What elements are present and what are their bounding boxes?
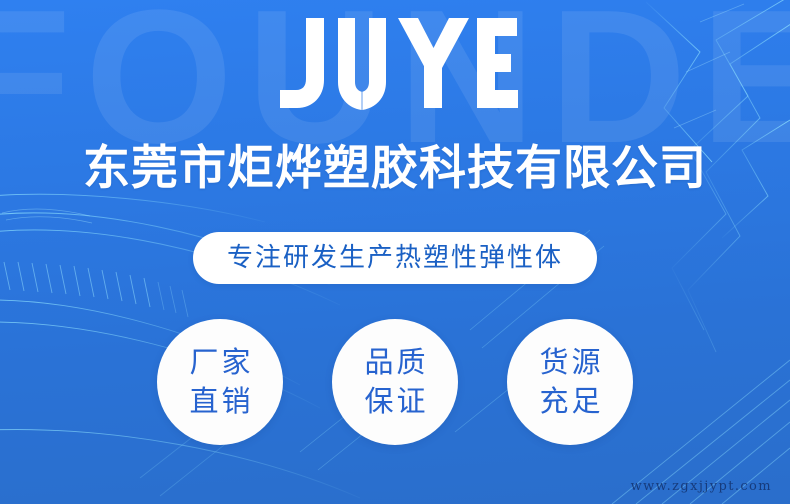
feature-2-line-2: 保证 [361,382,428,421]
feature-circle-2: 品质 保证 [332,319,458,445]
site-watermark: www.zgxjjypt.com [631,479,772,494]
feature-1-line-2: 直销 [186,382,253,421]
feature-circle-3: 货源 充足 [507,319,633,445]
feature-circle-1: 厂家 直销 [157,319,283,445]
company-name: 东莞市炬烨塑胶科技有限公司 [0,139,790,196]
feature-circle-list: 厂家 直销 品质 保证 货源 充足 [0,319,790,445]
feature-3-line-2: 充足 [536,382,603,421]
brand-logo-text [272,18,518,110]
feature-3-line-1: 货源 [536,343,603,382]
brand-logo [0,18,790,115]
feature-1-line-1: 厂家 [186,343,253,382]
promo-banner: FOUNDER [0,0,790,504]
tagline-wrapper: 专注研发生产热塑性弹性体 [0,232,790,284]
feature-2-line-1: 品质 [361,343,428,382]
tagline-pill: 专注研发生产热塑性弹性体 [193,232,597,284]
